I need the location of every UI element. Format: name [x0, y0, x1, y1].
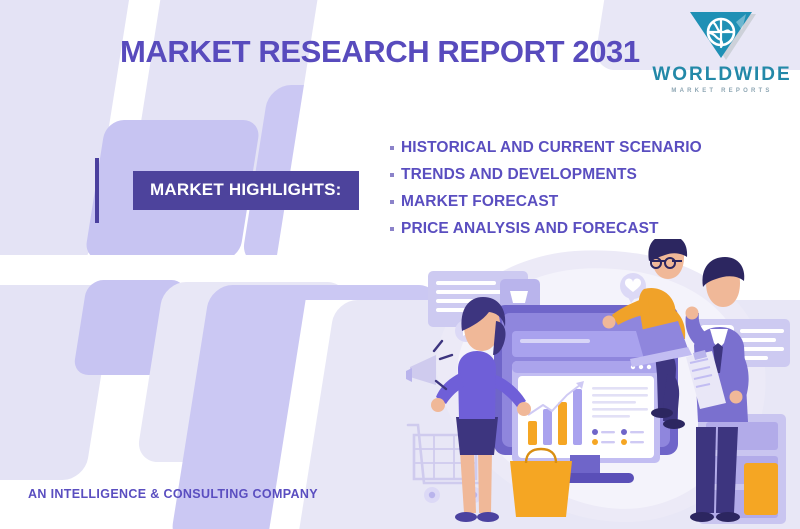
list-item-label: HISTORICAL AND CURRENT SCENARIO [401, 139, 702, 157]
list-item-label: PRICE ANALYSIS AND FORECAST [401, 220, 659, 238]
footer-tagline: AN INTELLIGENCE & CONSULTING COMPANY [28, 487, 318, 501]
bullet-dot-icon [390, 227, 394, 231]
bullet-dot-icon [390, 173, 394, 177]
list-item: TRENDS AND DEVELOPMENTS [390, 166, 702, 184]
market-highlights-label: MARKET HIGHLIGHTS: [133, 171, 359, 210]
report-cover: MARKET RESEARCH REPORT 2031 WORLDWIDE MA… [0, 0, 800, 529]
logo-name: WORLDWIDE [652, 65, 792, 84]
globe-in-triangle-icon [652, 6, 792, 64]
marketing-analytics-illustration [400, 239, 800, 529]
page-title: MARKET RESEARCH REPORT 2031 [120, 34, 640, 70]
highlights-accent-bar [95, 158, 99, 223]
brand-logo[interactable]: WORLDWIDE MARKET REPORTS [652, 6, 792, 94]
list-item-label: TRENDS AND DEVELOPMENTS [401, 166, 637, 184]
highlights-list: HISTORICAL AND CURRENT SCENARIO TRENDS A… [390, 139, 702, 247]
bullet-dot-icon [390, 146, 394, 150]
list-item: MARKET FORECAST [390, 193, 702, 211]
list-item-label: MARKET FORECAST [401, 193, 558, 211]
bullet-dot-icon [390, 200, 394, 204]
list-item: PRICE ANALYSIS AND FORECAST [390, 220, 702, 238]
logo-tagline: MARKET REPORTS [652, 88, 792, 94]
list-item: HISTORICAL AND CURRENT SCENARIO [390, 139, 702, 157]
